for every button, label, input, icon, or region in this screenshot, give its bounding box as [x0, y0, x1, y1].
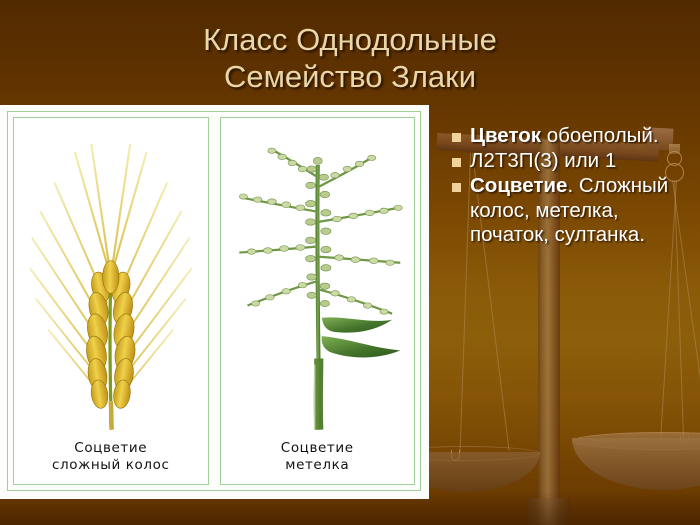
- bullet-bold-1: Цветок: [470, 124, 541, 147]
- bullet-square-icon: [452, 158, 461, 167]
- scale-hook-left: [451, 450, 460, 461]
- bullet-square-icon: [452, 183, 461, 192]
- bullet-text-2: Л2Т3П(3) или 1: [470, 149, 692, 173]
- bullet-list: Цветок обоеполый. Л2Т3П(3) или 1 Соцвети…: [452, 124, 692, 248]
- bullet-rest-1: обоеполый.: [541, 124, 659, 147]
- panel-caption-wheat: Соцветие сложный колос: [49, 436, 173, 484]
- scale-pan-right: [572, 438, 700, 490]
- panicle-icon: [221, 118, 415, 436]
- bullet-bold-3: Соцветие: [470, 174, 567, 197]
- bullet-square-icon: [452, 133, 461, 142]
- scale-post-foot: [528, 498, 570, 525]
- wheat-spike-icon: [14, 118, 208, 436]
- panel-caption-panicle: Соцветие метелка: [278, 436, 357, 484]
- bullet-text-3: Соцветие. Сложный колос, метелка, почато…: [470, 174, 692, 247]
- scale-pan-right-rim: [572, 432, 700, 450]
- illustration-panels: Соцветие сложный колос: [13, 117, 415, 485]
- slide-canvas: Класс Однодольные Семейство Злаки: [0, 0, 700, 525]
- leaf-lower: [321, 336, 400, 357]
- panel-panicle: Соцветие метелка: [220, 117, 416, 485]
- wheat-spike-art: [14, 118, 208, 436]
- leaf-upper: [321, 317, 391, 332]
- list-item: Цветок обоеполый.: [452, 124, 692, 148]
- bullet-text-1: Цветок обоеполый.: [470, 124, 692, 148]
- illustration-frame: Соцветие сложный колос: [0, 105, 429, 499]
- panicle-art: [221, 118, 415, 436]
- bullet-rest-2: Л2Т3П(3) или 1: [470, 149, 616, 172]
- list-item: Л2Т3П(3) или 1: [452, 149, 692, 173]
- panel-wheat-spike: Соцветие сложный колос: [13, 117, 209, 485]
- list-item: Соцветие. Сложный колос, метелка, почато…: [452, 174, 692, 247]
- slide-title: Класс Однодольные Семейство Злаки: [100, 22, 600, 95]
- scale-hook-right: [680, 436, 689, 447]
